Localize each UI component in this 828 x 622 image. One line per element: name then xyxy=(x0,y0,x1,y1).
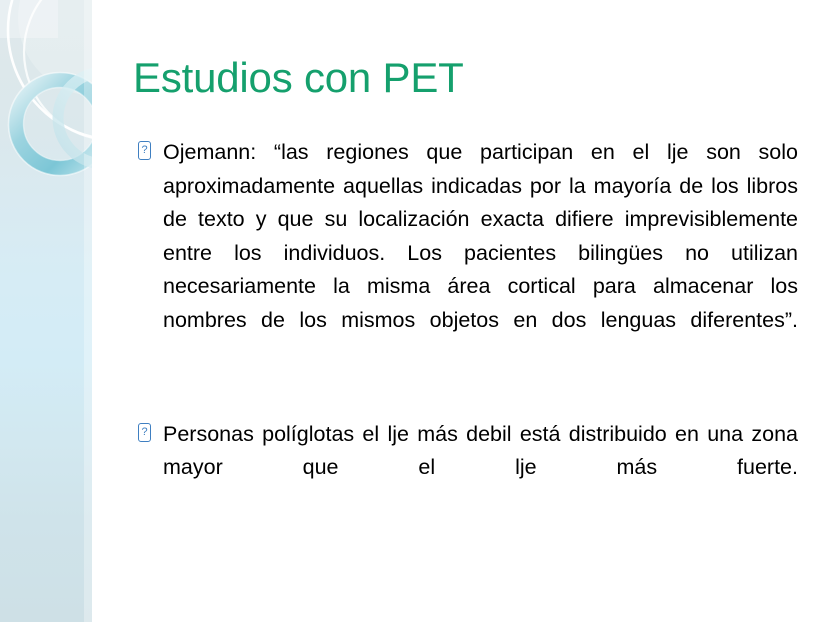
missing-glyph-box-icon: ? xyxy=(138,423,151,442)
page-title: Estudios con PET xyxy=(133,52,464,104)
content-body: ? Ojemann: “las regiones que participan … xyxy=(138,136,798,518)
missing-glyph-box-icon: ? xyxy=(138,141,151,160)
list-item: ? Ojemann: “las regiones que participan … xyxy=(138,136,798,371)
decorative-sidebar xyxy=(0,0,92,622)
list-item-text: Ojemann: “las regiones que participan en… xyxy=(163,136,798,371)
list-item-text: Personas políglotas el lje más debil est… xyxy=(163,418,798,519)
slide-canvas: Estudios con PET ? Ojemann: “las regione… xyxy=(0,0,828,622)
list-item: ? Personas políglotas el lje más debil e… xyxy=(138,418,798,519)
sidebar-edge-band xyxy=(84,0,92,622)
sidebar-decoration-svg xyxy=(0,0,92,622)
